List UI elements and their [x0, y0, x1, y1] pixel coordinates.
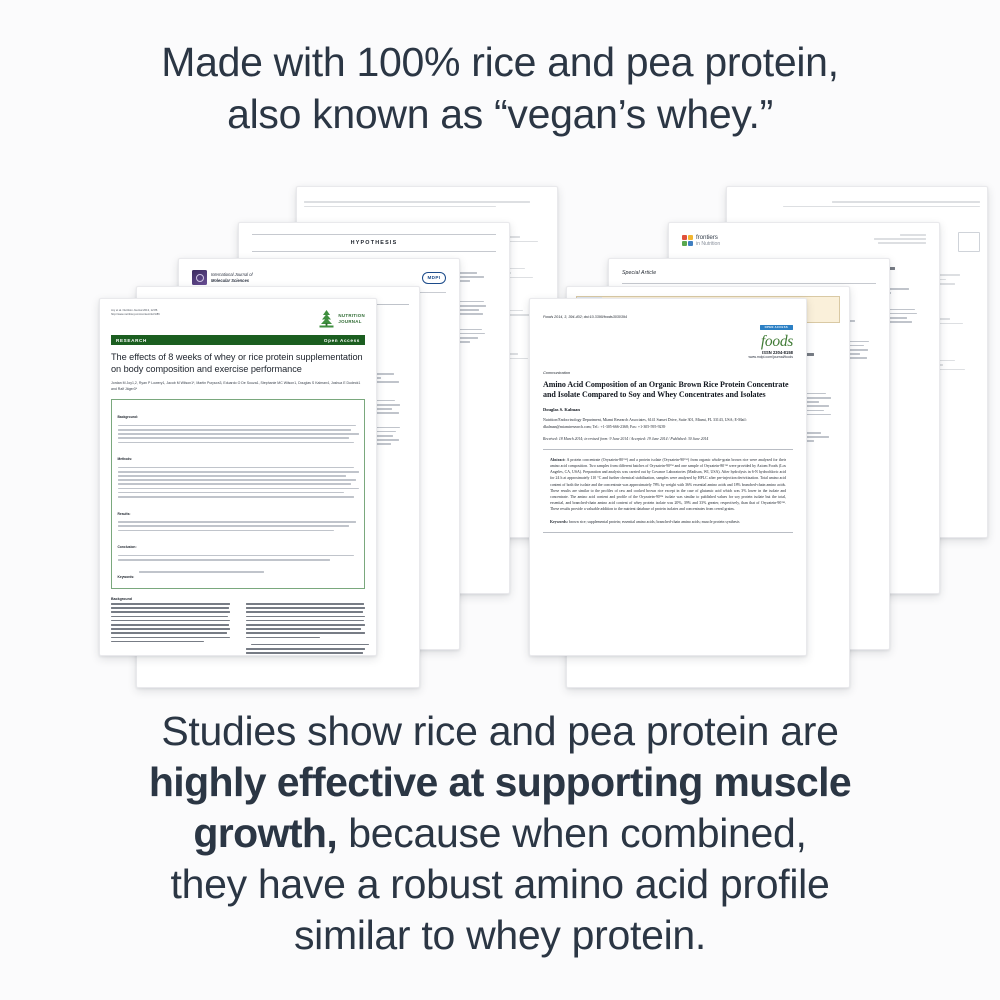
nj-abs-label-4: Keywords: [118, 575, 135, 579]
foods-keywords-text: brown rice; supplemental protein; essent… [569, 520, 740, 524]
bottom-headline-line-1: Studies show rice and pea protein are [0, 706, 1000, 757]
bottom-headline: Studies show rice and pea protein are hi… [0, 706, 1000, 961]
nj-band-left: RESEARCH [116, 338, 147, 343]
foods-article-type: Communication [543, 370, 793, 375]
nj-abs-label-2: Results: [118, 512, 131, 516]
frontiers-logo-icon [682, 235, 693, 246]
nj-research-band: RESEARCH Open Access [111, 335, 365, 345]
open-access-badge: OPEN ACCESS [760, 325, 793, 331]
foods-dates: Received: 18 March 2014; in revised form… [543, 436, 793, 442]
nj-authors: Jordan M Joy1,2, Ryan P Lowery1, Jacob M… [111, 381, 365, 392]
nj-abstract-box: Background: Methods: Results: [111, 399, 365, 588]
nj-body-heading: Background [111, 597, 365, 601]
nj-abs-label-0: Background: [118, 415, 138, 419]
ijms-logo-icon [192, 270, 207, 285]
bottom-headline-line-3-rest: because when combined, [337, 810, 806, 856]
ijms-journal-line-2: Molecular Sciences [211, 278, 249, 283]
right-document-stack: frontiers in Nutrition [526, 186, 946, 666]
bottom-headline-line-5: similar to whey protein. [0, 910, 1000, 961]
foods-affiliation: Nutrition/Endocrinology Department, Miam… [543, 417, 793, 429]
right-doc-1-foods: Foods 2014, 3, 394-402; doi:10.3390/food… [529, 298, 807, 656]
foods-keywords-label: Keywords: [550, 520, 568, 524]
nutrition-journal-tree-icon [318, 309, 335, 328]
mdpi-badge: MDPI [422, 272, 446, 284]
top-headline-line-1: Made with 100% rice and pea protein, [0, 36, 1000, 88]
frontiers-brand-line-2: in Nutrition [696, 241, 720, 247]
foods-abstract-text: A protein concentrate (Oryzatein-80™) an… [550, 458, 786, 512]
left-doc-1-nutrition-journal: Joy et al. Nutrition Journal 2013, 12:86… [99, 298, 377, 656]
nj-abs-label-3: Conclusion: [118, 545, 137, 549]
special-article-label: Special Article [622, 270, 876, 276]
foods-citation: Foods 2014, 3, 394-402; doi:10.3390/food… [543, 315, 627, 319]
nj-citation-line-2: http://www.nutritionj.com/content/12/1/8… [111, 313, 160, 317]
top-headline: Made with 100% rice and pea protein, als… [0, 36, 1000, 140]
bottom-headline-line-2: highly effective at supporting muscle [149, 759, 851, 805]
foods-wordmark: foods [748, 334, 793, 350]
foods-author: Douglas S. Kalman [543, 407, 793, 412]
top-headline-line-2: also known as “vegan’s whey.” [0, 88, 1000, 140]
nj-article-title: The effects of 8 weeks of whey or rice p… [111, 352, 365, 375]
bottom-headline-line-4: they have a robust amino acid profile [0, 859, 1000, 910]
foods-article-title: Amino Acid Composition of an Organic Bro… [543, 380, 793, 401]
left-document-stack: HYPOTHESIS [96, 186, 516, 666]
frontiers-brand-line-1: frontiers [696, 234, 720, 241]
nj-abs-label-1: Methods: [118, 457, 133, 461]
bottom-headline-line-3-bold: growth, [193, 810, 337, 856]
promo-graphic: Made with 100% rice and pea protein, als… [0, 0, 1000, 1000]
nutrition-journal-wordmark: NUTRITIONJOURNAL [338, 313, 365, 324]
foods-abstract-label: Abstract: [550, 458, 566, 462]
nj-band-right: Open Access [324, 338, 360, 343]
hypothesis-label: HYPOTHESIS [252, 240, 496, 246]
foods-url: www.mdpi.com/journal/foods [748, 355, 793, 359]
